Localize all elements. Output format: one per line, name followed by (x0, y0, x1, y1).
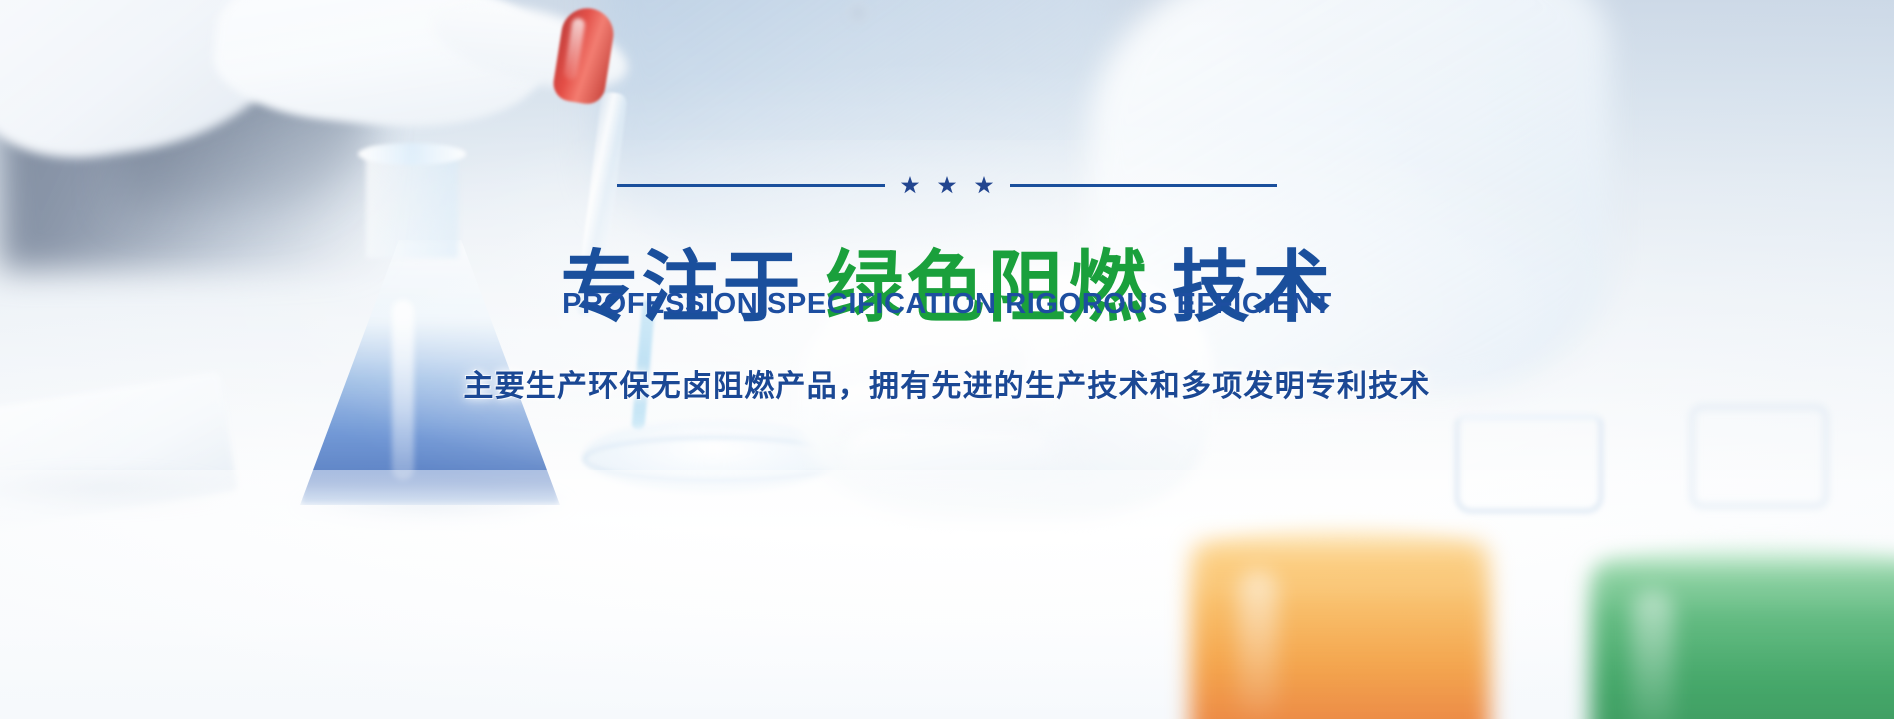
star-icon (901, 176, 920, 195)
divider-rule-right (1010, 184, 1278, 187)
description-text: 主要生产环保无卤阻燃产品，拥有先进的生产技术和多项发明专利技术 (463, 361, 1430, 405)
star-icon (975, 176, 994, 195)
subtitle-english: PROFESSION SPECIFICATION RIGOROUS EFFICI… (562, 288, 1332, 321)
hero-banner: 专注于绿色阻燃技术 PROFESSION SPECIFICATION RIGOR… (0, 0, 1894, 719)
star-group (901, 176, 994, 195)
star-icon (938, 176, 957, 195)
banner-content: 专注于绿色阻燃技术 PROFESSION SPECIFICATION RIGOR… (0, 0, 1894, 719)
ornament-divider (617, 176, 1277, 195)
divider-rule-left (617, 184, 885, 187)
